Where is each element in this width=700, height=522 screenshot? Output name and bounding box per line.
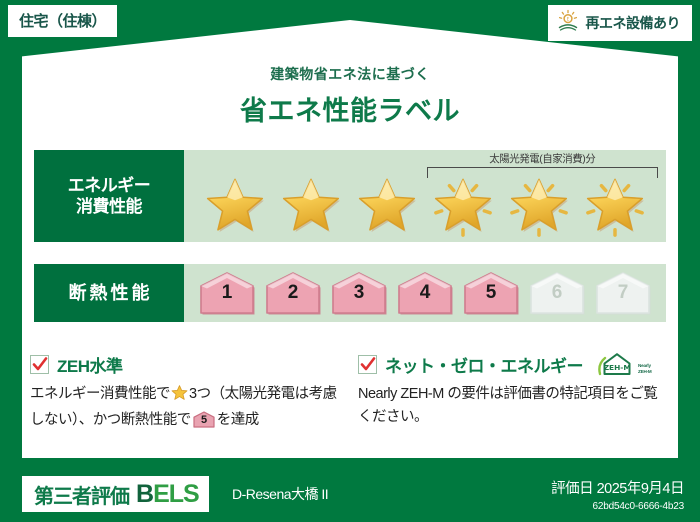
star-rating (184, 174, 666, 240)
criterion-nze-header: ネット・ゼロ・エネルギー ZEH-M Nearly ZEH-M (358, 352, 668, 376)
insulation-performance-value: 1 2 3 4 5 (184, 264, 666, 322)
star-icon (204, 176, 266, 238)
insulation-level-number: 2 (264, 283, 322, 302)
energy-key-line2: 消費性能 (76, 196, 142, 217)
star-icon (508, 176, 570, 238)
insulation-house-icon: 5 (193, 411, 215, 428)
insulation-level-number: 7 (594, 283, 652, 302)
star-icon (280, 176, 342, 238)
energy-key-line1: エネルギー (68, 175, 151, 196)
zeh-m-logo-subtext: Nearly ZEH-M (638, 363, 652, 377)
star-icon (432, 176, 494, 238)
insulation-level-scale: 1 2 3 4 5 (184, 264, 666, 322)
bels-third-party-mark: 第三者評価 BELS (22, 476, 209, 512)
insulation-level-4: 4 (396, 270, 454, 316)
criterion-nze-title: ネット・ゼロ・エネルギー (385, 352, 583, 377)
zeh-m-sub-line2: ZEH-M (638, 369, 652, 374)
evaluation-id: 62bd54c0-6666-4b23 (593, 501, 684, 512)
criterion-zeh-body: エネルギー消費性能で 3つ（太陽光発電は考慮しない）、かつ断熱性能で 5 を達成 (30, 383, 340, 432)
bels-logo-b: B (136, 480, 153, 508)
evaluation-date: 評価日 2025年9月4日 (551, 477, 684, 498)
bels-logo: BELS (136, 480, 199, 509)
insulation-level-number: 4 (396, 283, 454, 302)
insulation-performance-row: 断熱性能 1 2 3 (34, 264, 666, 322)
insulation-level-3: 3 (330, 270, 388, 316)
criterion-zeh-standard: ZEH水準 エネルギー消費性能で 3つ（太陽光発電は考慮しない）、かつ断熱性能で… (30, 352, 340, 432)
insulation-level-6: 6 (528, 270, 586, 316)
building-type-tab: 住宅（住棟） (8, 5, 117, 37)
insulation-level-number: 5 (462, 283, 520, 302)
criterion-zeh-title: ZEH水準 (57, 352, 123, 377)
checkbox-checked-icon[interactable] (30, 355, 49, 374)
third-party-label: 第三者評価 (34, 480, 129, 509)
label-subtitle: 建築物省エネ法に基づく (0, 64, 700, 84)
insulation-level-7: 7 (594, 270, 652, 316)
solar-sun-icon: E (557, 9, 579, 36)
insulation-level-number: 6 (528, 283, 586, 302)
insulation-level-number: 3 (330, 283, 388, 302)
building-name: D-Resena大橋 II (232, 476, 328, 512)
insulation-level-2: 2 (264, 270, 322, 316)
insulation-house-icon-value: 5 (193, 415, 215, 426)
insulation-level-5: 5 (462, 270, 520, 316)
label-title: 省エネ性能ラベル (0, 89, 700, 128)
star-icon (356, 176, 418, 238)
insulation-level-1: 1 (198, 270, 256, 316)
energy-performance-value: 太陽光発電(自家消費)分 (184, 150, 666, 242)
bels-logo-els: ELS (153, 480, 199, 508)
building-type-label: 住宅（住棟） (19, 13, 106, 30)
energy-performance-key: エネルギー 消費性能 (34, 150, 184, 242)
star-icon (171, 384, 188, 409)
energy-performance-label: 住宅（住棟） E 再エネ設備あり 建築物省エネ法に基づく 省エネ性能ラベ (0, 0, 700, 522)
star-icon (584, 176, 646, 238)
criterion-zeh-text-1: エネルギー消費性能で (30, 386, 170, 402)
solar-annotation-label: 太陽光発電(自家消費)分 (423, 151, 662, 166)
criterion-net-zero-energy: ネット・ゼロ・エネルギー ZEH-M Nearly ZEH-M Nearly Z… (358, 352, 668, 429)
criterion-nze-body: Nearly ZEH-M の要件は評価書の特記項目をご覧ください。 (358, 383, 668, 429)
insulation-level-number: 1 (198, 283, 256, 302)
criterion-zeh-header: ZEH水準 (30, 352, 340, 376)
energy-performance-row: エネルギー 消費性能 太陽光発電(自家消費)分 (34, 150, 666, 242)
renewable-badge-label: 再エネ設備あり (586, 13, 681, 33)
svg-text:ZEH-M: ZEH-M (604, 363, 631, 372)
insulation-performance-key: 断熱性能 (34, 264, 184, 322)
title-block: 建築物省エネ法に基づく 省エネ性能ラベル (0, 64, 700, 128)
zeh-m-logo: ZEH-M Nearly ZEH-M (597, 351, 652, 377)
zeh-m-sub-line1: Nearly (638, 363, 651, 368)
renewable-equipment-badge: E 再エネ設備あり (548, 5, 693, 41)
criterion-zeh-text-3: を達成 (217, 412, 259, 428)
checkbox-checked-icon[interactable] (358, 355, 377, 374)
svg-text:E: E (566, 17, 569, 23)
evaluation-info: 評価日 2025年9月4日 62bd54c0-6666-4b23 (551, 476, 684, 512)
